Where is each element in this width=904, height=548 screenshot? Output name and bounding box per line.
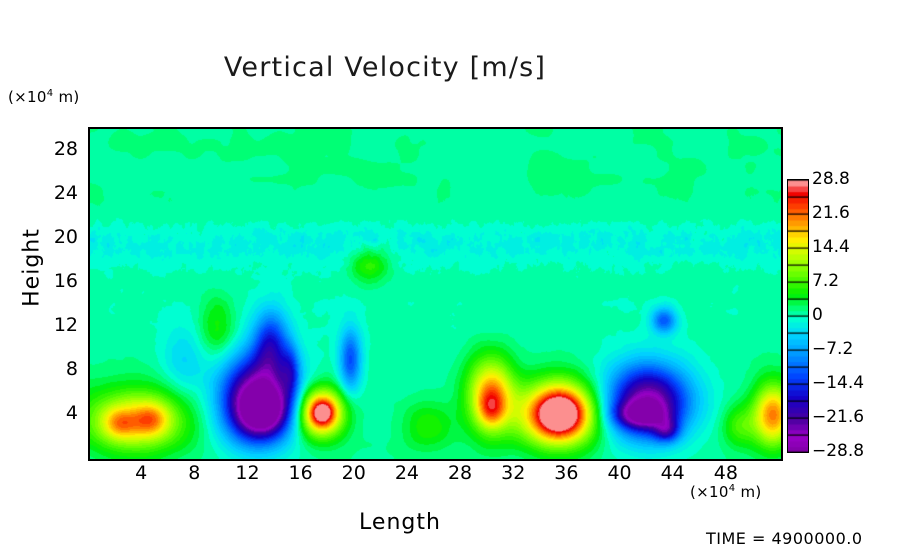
x-tick-24: 24 bbox=[395, 462, 419, 484]
colorbar bbox=[787, 179, 809, 453]
y-tick-4: 4 bbox=[30, 402, 78, 424]
colorbar-tick-4: 0 bbox=[812, 305, 823, 325]
time-stamp: TIME = 4900000.0 bbox=[706, 529, 863, 548]
x-tick-32: 32 bbox=[501, 462, 525, 484]
colorbar-gradient bbox=[787, 179, 809, 453]
x-tick-40: 40 bbox=[607, 462, 631, 484]
x-tick-16: 16 bbox=[289, 462, 313, 484]
x-tick-4: 4 bbox=[135, 462, 147, 484]
colorbar-tick-2: 14.4 bbox=[812, 237, 850, 257]
colorbar-tick-3: 7.2 bbox=[812, 271, 839, 291]
x-axis-tick-labels: 4812162024283236404448 bbox=[0, 462, 904, 488]
heatmap-plot-area bbox=[88, 127, 783, 461]
y-tick-24: 24 bbox=[30, 182, 78, 204]
y-tick-28: 28 bbox=[30, 138, 78, 160]
colorbar-tick-7: −21.6 bbox=[812, 407, 864, 427]
vertical-velocity-field bbox=[90, 129, 781, 459]
colorbar-tick-6: −14.4 bbox=[812, 373, 864, 393]
x-axis-title: Length bbox=[250, 510, 550, 535]
page-title: Vertical Velocity [m/s] bbox=[0, 52, 770, 83]
x-tick-48: 48 bbox=[714, 462, 738, 484]
x-tick-12: 12 bbox=[235, 462, 259, 484]
colorbar-tick-5: −7.2 bbox=[812, 339, 853, 359]
colorbar-tick-1: 21.6 bbox=[812, 203, 850, 223]
colorbar-tick-labels: 28.821.614.47.20−7.2−14.4−21.6−28.8 bbox=[812, 179, 902, 453]
y-axis-title: Height bbox=[20, 208, 45, 328]
colorbar-tick-0: 28.8 bbox=[812, 169, 850, 189]
colorbar-tick-8: −28.8 bbox=[812, 441, 864, 461]
x-tick-20: 20 bbox=[342, 462, 366, 484]
x-tick-28: 28 bbox=[448, 462, 472, 484]
x-tick-36: 36 bbox=[554, 462, 578, 484]
x-tick-8: 8 bbox=[188, 462, 200, 484]
y-tick-8: 8 bbox=[30, 358, 78, 380]
x-tick-44: 44 bbox=[661, 462, 685, 484]
